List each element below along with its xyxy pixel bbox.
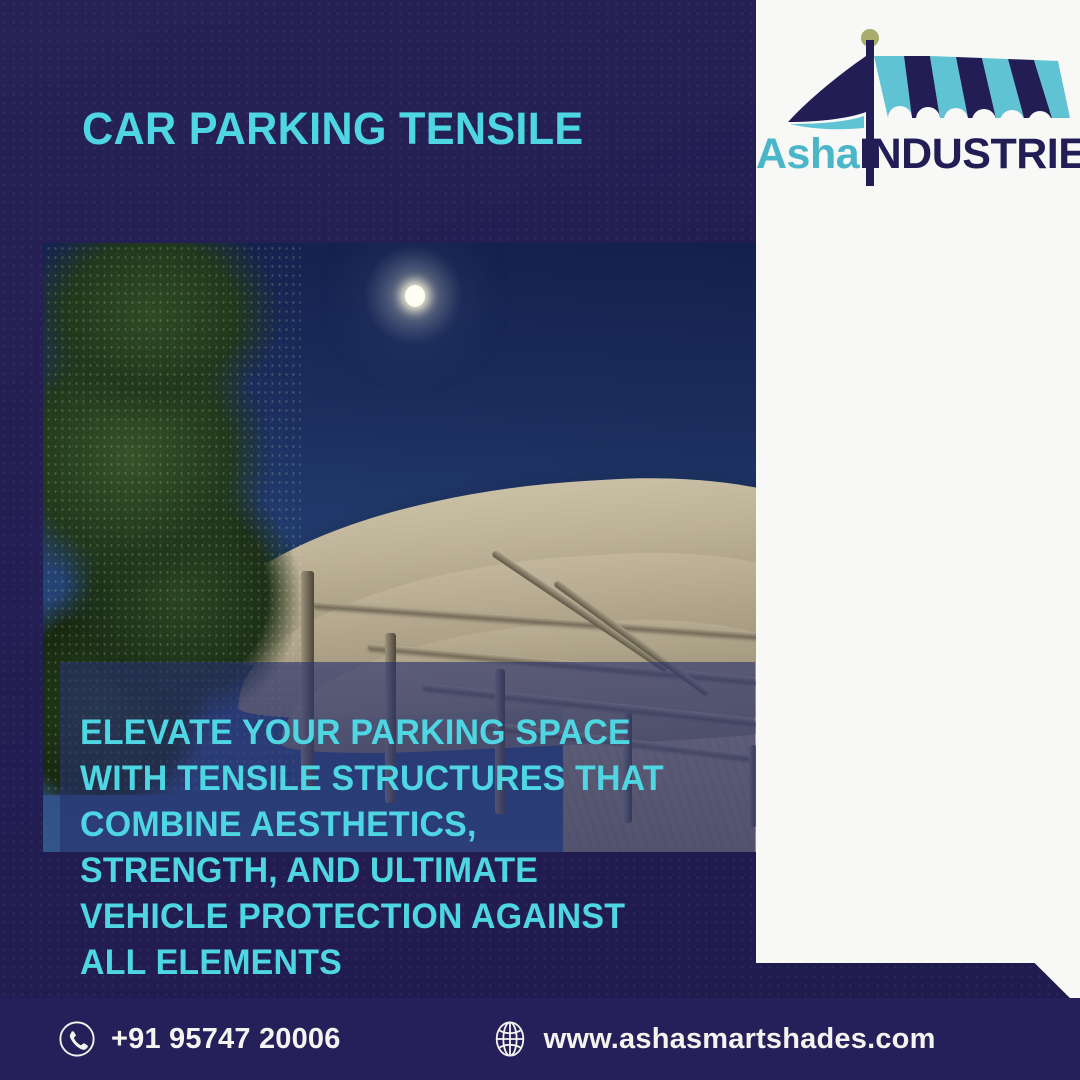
headline-line: ELEVATE YOUR PARKING SPACE [80,710,720,756]
website-url-text: www.ashasmartshades.com [544,1023,936,1056]
contact-phone[interactable]: +91 95747 20006 [58,1020,341,1058]
brand-wordmark: AshaINDUSTRIES [756,130,1074,179]
contact-footer-bar: +91 95747 20006 www.ashasmartshades.com [0,998,1080,1080]
brand-name-industries: INDUSTRIES [859,130,1080,178]
moon-icon [405,285,425,307]
headline-line: COMBINE AESTHETICS, [80,802,720,848]
phone-icon [58,1020,96,1058]
headline-line: WITH TENSILE STRUCTURES THAT [80,756,720,802]
contact-website[interactable]: www.ashasmartshades.com [491,1020,936,1058]
poster-canvas: ELEVATE YOUR PARKING SPACE WITH TENSILE … [0,0,1080,1080]
phone-number-text: +91 95747 20006 [111,1023,341,1056]
brand-logo-panel: AshaINDUSTRIES [756,0,1080,1000]
headline-line: STRENGTH, AND ULTIMATE [80,848,720,894]
brand-name-asha: Asha [756,130,859,178]
globe-icon [491,1020,529,1058]
headline-line: VEHICLE PROTECTION AGAINST [80,894,720,940]
page-title: CAR PARKING TENSILE [82,103,583,155]
headline-paragraph: ELEVATE YOUR PARKING SPACE WITH TENSILE … [80,710,720,986]
headline-line: ALL ELEMENTS [80,940,720,986]
